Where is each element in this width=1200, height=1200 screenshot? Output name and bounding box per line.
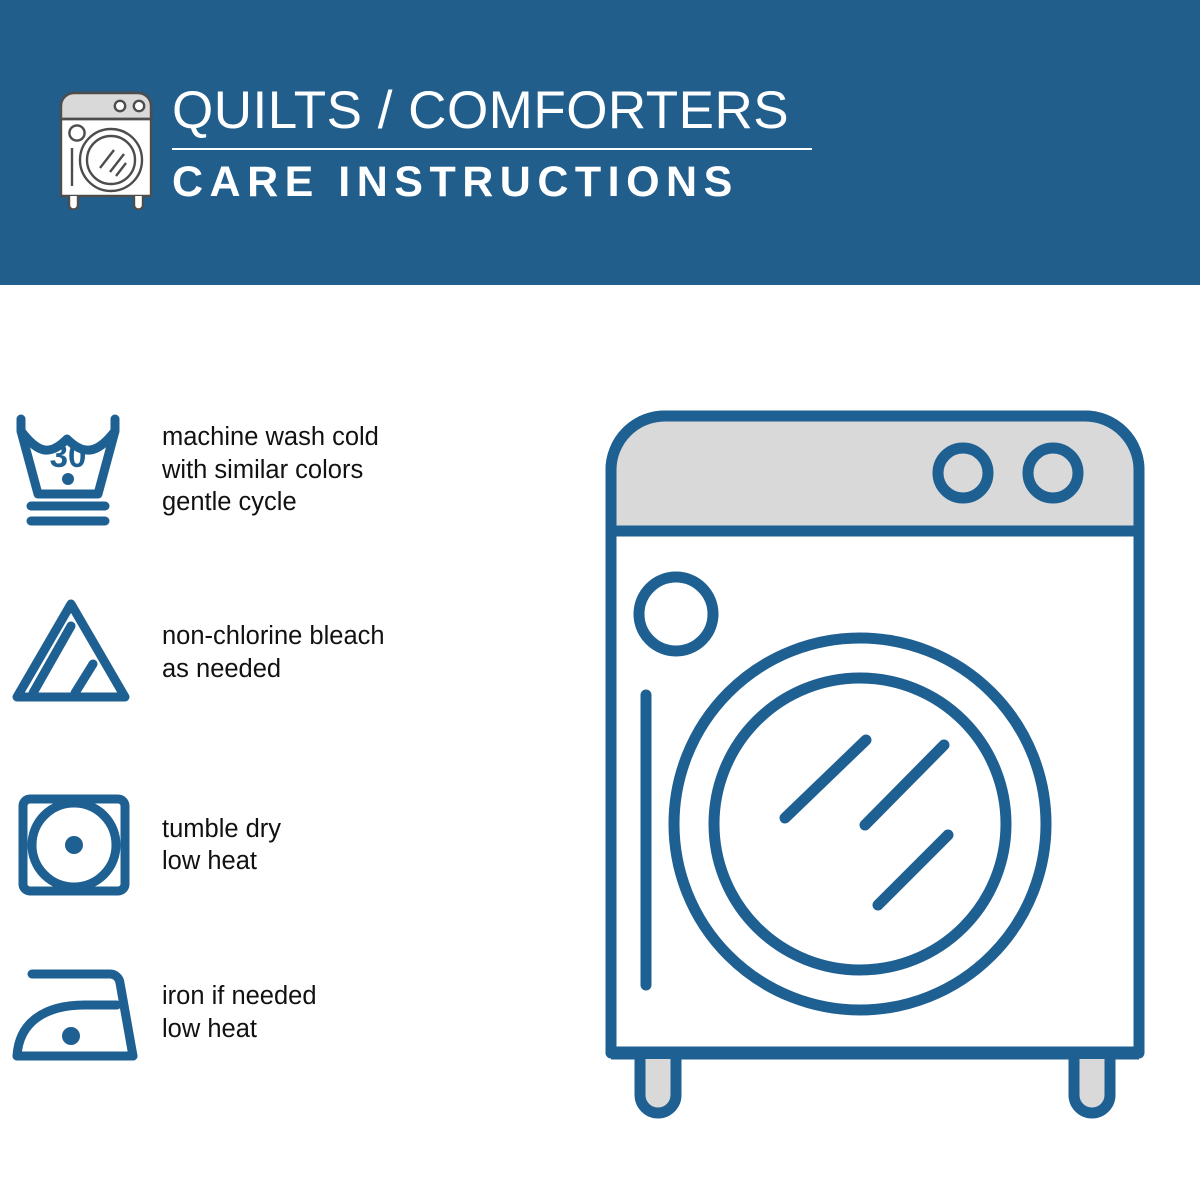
care-row-machine-wash: 30 machine wash cold with similar colors… xyxy=(0,405,540,535)
care-label-line: gentle cycle xyxy=(162,486,379,519)
title-block: QUILTS / COMFORTERS CARE INSTRUCTIONS xyxy=(172,82,832,205)
tumble-dry-low-heat-icon xyxy=(0,789,150,901)
care-label-line: machine wash cold xyxy=(162,421,379,454)
machine-wash-30-gentle-icon: 30 xyxy=(0,409,150,531)
non-chlorine-bleach-triangle-icon xyxy=(0,594,150,712)
care-label-line: iron if needed xyxy=(162,980,317,1013)
care-row-bleach: non-chlorine bleach as needed xyxy=(0,590,540,715)
door-outer-ring xyxy=(674,638,1046,1010)
care-label-line: low heat xyxy=(162,1013,317,1046)
header-banner: QUILTS / COMFORTERS CARE INSTRUCTIONS xyxy=(0,0,1200,285)
door-latch-icon xyxy=(639,577,713,651)
washing-machine-illustration xyxy=(600,405,1170,1120)
door-swirl-lines xyxy=(785,740,948,905)
care-label-line: as needed xyxy=(162,653,385,686)
care-label-line: non-chlorine bleach xyxy=(162,620,385,653)
iron-low-heat-icon xyxy=(0,960,150,1065)
title-divider xyxy=(172,148,812,150)
control-knob[interactable] xyxy=(1028,448,1078,498)
wash-temperature-value: 30 xyxy=(50,437,87,474)
door-inner-ring xyxy=(714,678,1006,970)
care-row-iron-label: iron if needed low heat xyxy=(162,980,317,1045)
control-knob[interactable] xyxy=(938,448,988,498)
care-row-tumble-dry: tumble dry low heat xyxy=(0,785,540,905)
machine-leg xyxy=(640,1059,676,1113)
care-row-machine-wash-label: machine wash cold with similar colors ge… xyxy=(162,421,379,519)
care-row-iron: iron if needed low heat xyxy=(0,955,540,1070)
care-row-bleach-label: non-chlorine bleach as needed xyxy=(162,620,385,685)
care-label-line: low heat xyxy=(162,845,281,878)
page-title: QUILTS / COMFORTERS xyxy=(172,82,832,140)
washing-machine-logo-icon xyxy=(54,84,158,210)
care-label-line: tumble dry xyxy=(162,813,281,846)
machine-leg xyxy=(1074,1059,1110,1113)
care-label-line: with similar colors xyxy=(162,454,379,487)
page-subtitle: CARE INSTRUCTIONS xyxy=(172,159,832,205)
care-row-tumble-dry-label: tumble dry low heat xyxy=(162,813,281,878)
